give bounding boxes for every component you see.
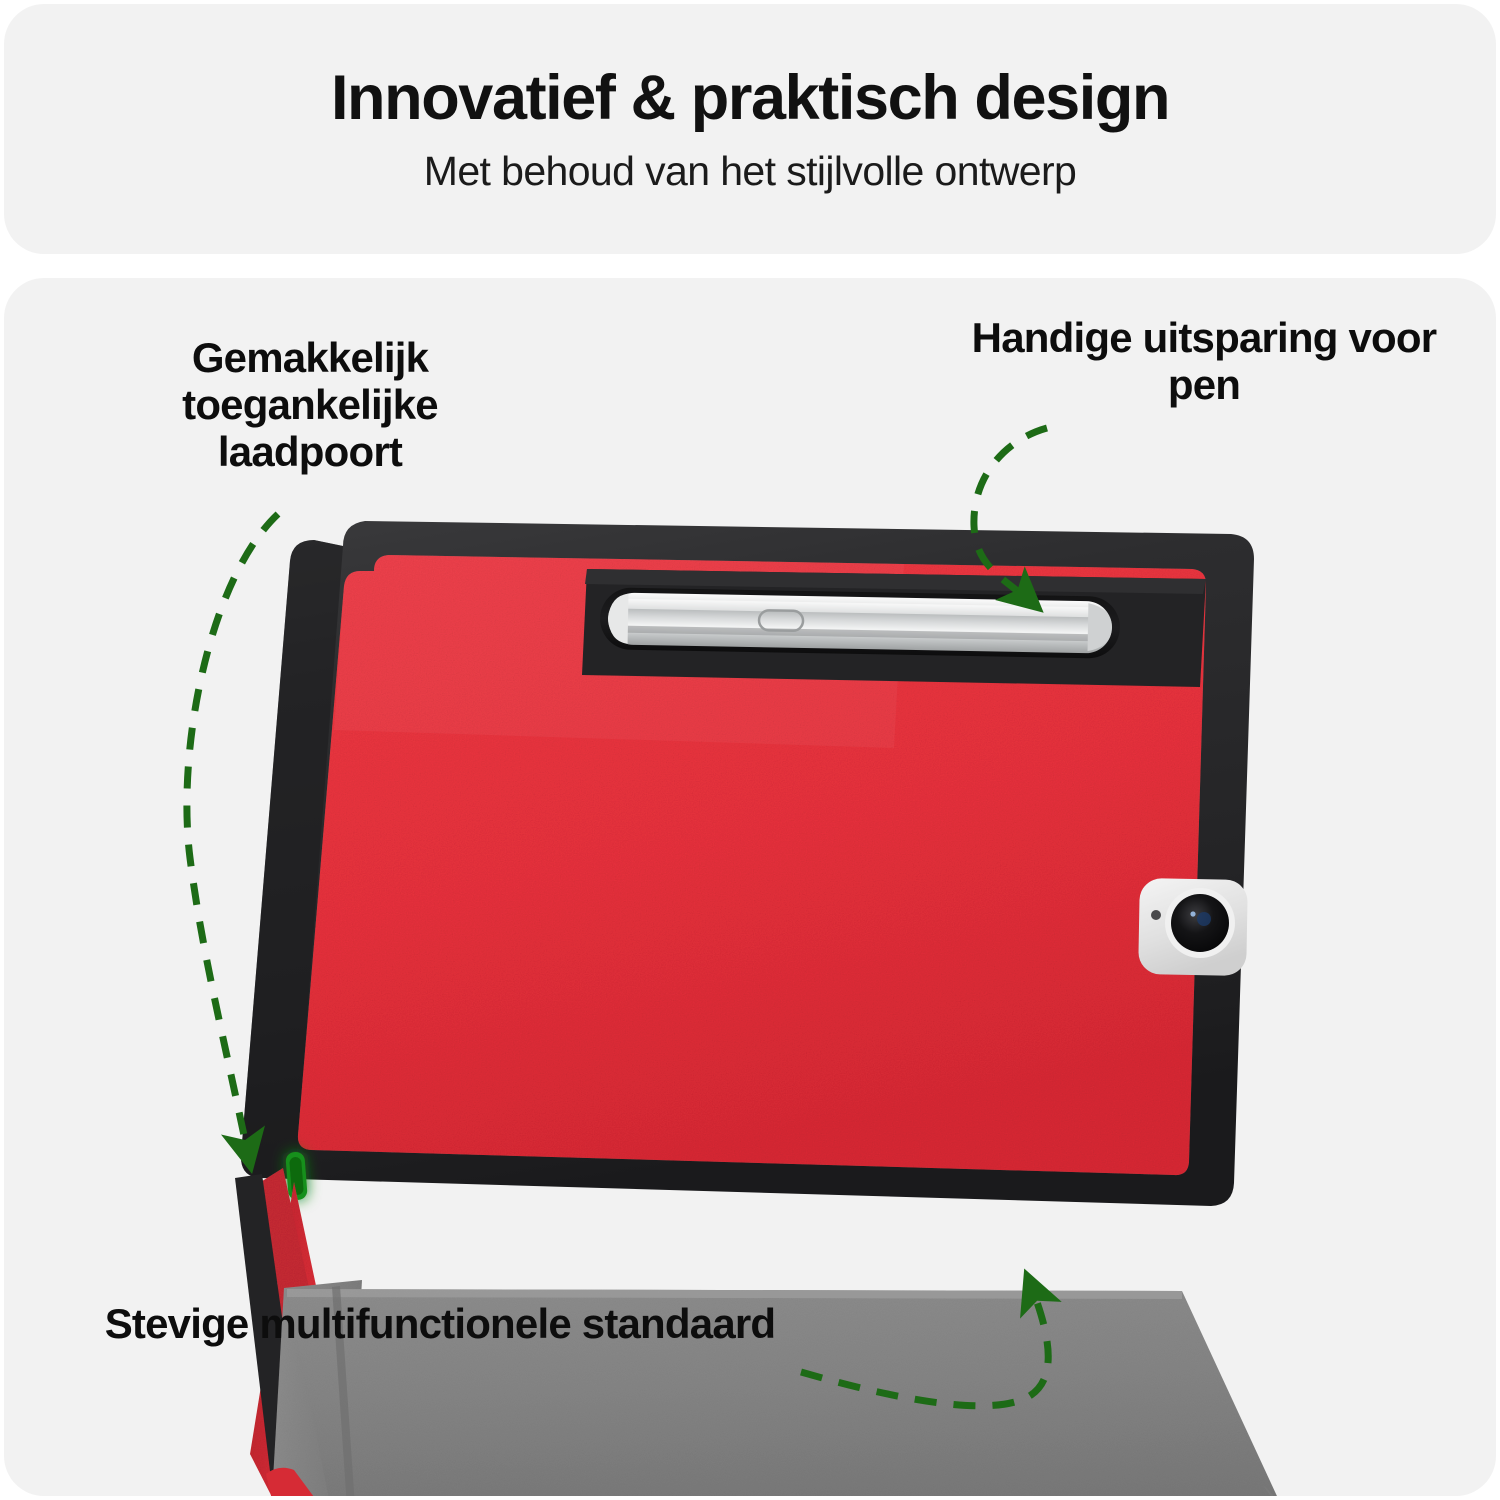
camera-module (1138, 878, 1248, 976)
tablet-case-body (241, 521, 1254, 1206)
infographic-page: Innovatief & praktisch design Met behoud… (0, 0, 1500, 1500)
product-showcase-card: Gemakkelijk toegankelijke laadpoort Hand… (4, 278, 1496, 1496)
page-title: Innovatief & praktisch design (331, 65, 1169, 131)
camera-lens-sparkle (1190, 911, 1195, 916)
callout-stand: Stevige multifunctionele standaard (90, 1300, 790, 1347)
camera-flash (1151, 910, 1161, 920)
header-card: Innovatief & praktisch design Met behoud… (4, 4, 1496, 254)
callout-pen-cutout: Handige uitsparing voor pen (939, 314, 1469, 408)
charging-port-highlight (285, 1151, 308, 1200)
camera-lens-reflection (1197, 912, 1211, 926)
s-pen-stylus (608, 592, 1113, 653)
page-subtitle: Met behoud van het stijlvolle ontwerp (424, 150, 1076, 193)
callout-charging-port: Gemakkelijk toegankelijke laadpoort (100, 334, 520, 475)
